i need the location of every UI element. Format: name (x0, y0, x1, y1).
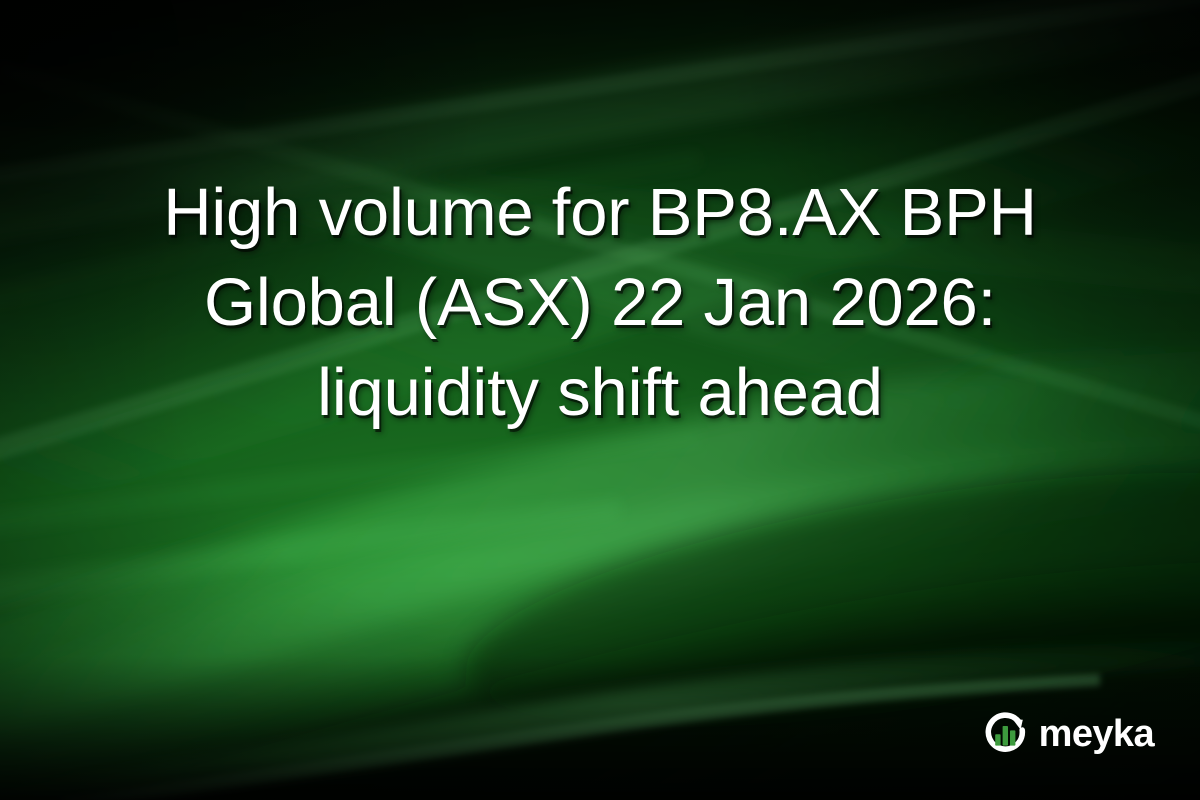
circular-bar-chart-icon (982, 710, 1030, 758)
brand-logo: meyka (982, 710, 1154, 758)
headline-container: High volume for BP8.AX BPH Global (ASX) … (0, 168, 1200, 438)
social-share-card: High volume for BP8.AX BPH Global (ASX) … (0, 0, 1200, 800)
brand-wordmark: meyka (1039, 715, 1154, 753)
page-title: High volume for BP8.AX BPH Global (ASX) … (48, 168, 1152, 438)
